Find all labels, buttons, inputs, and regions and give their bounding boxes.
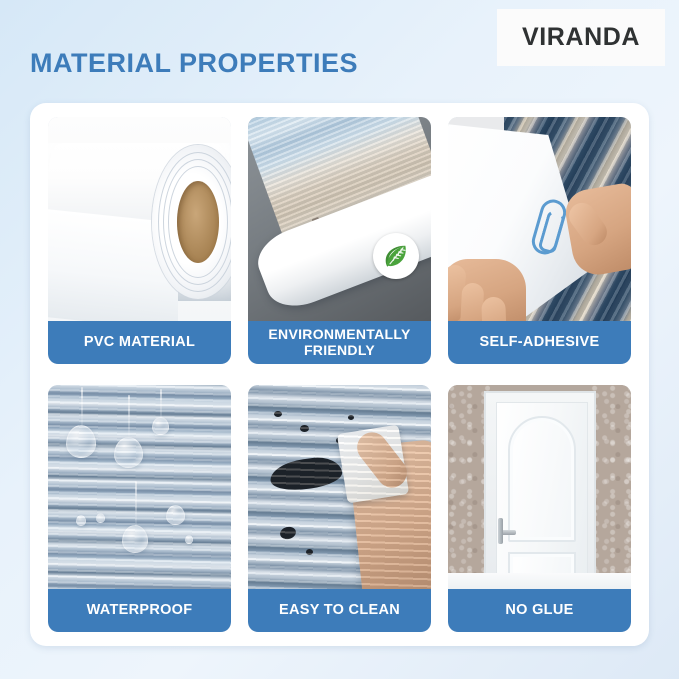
feature-card-environmentally-friendly[interactable]: ENVIRONMENTALLY FRIENDLY [248, 117, 431, 364]
feature-label-environmentally-friendly: ENVIRONMENTALLY FRIENDLY [248, 321, 431, 364]
water-droplet-3 [152, 417, 169, 435]
cleaning-cloth [337, 425, 409, 504]
stain-spot-3 [300, 425, 309, 432]
feature-label-no-glue: NO GLUE [448, 589, 631, 632]
feature-card-no-glue[interactable]: NO GLUE [448, 385, 631, 632]
door-slab [496, 402, 588, 595]
cleaning-thumb [351, 426, 413, 493]
door-panel-top [508, 416, 576, 542]
leaf-icon [373, 233, 419, 279]
waterproof-image [48, 385, 231, 595]
droplet-trail-3 [160, 389, 162, 419]
stain-spot-6 [279, 525, 297, 541]
water-droplet-6 [76, 515, 86, 526]
brand-logo: VIRANDA [497, 9, 665, 66]
feature-label-waterproof: WATERPROOF [48, 589, 231, 632]
left-hand [448, 259, 526, 327]
self-adhesive-image [448, 117, 631, 327]
cleaning-hand [347, 439, 431, 595]
feature-label-self-adhesive: SELF-ADHESIVE [448, 321, 631, 364]
easy-to-clean-image [248, 385, 431, 595]
brand-logo-text: VIRANDA [522, 23, 640, 52]
droplet-trail-1 [81, 387, 83, 427]
feature-card-pvc-material[interactable]: PVC MATERIAL [48, 117, 231, 364]
water-droplet-1 [66, 425, 96, 458]
stain-smear-main [268, 454, 343, 494]
eco-peel-image [248, 117, 431, 327]
feature-label-easy-to-clean: EASY TO CLEAN [248, 589, 431, 632]
pvc-roll-image [48, 117, 231, 327]
features-grid: PVC MATERIAL [48, 117, 631, 632]
wall-right [591, 385, 631, 595]
features-panel: PVC MATERIAL [30, 103, 649, 646]
feature-card-easy-to-clean[interactable]: EASY TO CLEAN [248, 385, 431, 632]
stain-spot-7 [306, 549, 313, 555]
feature-label-pvc-material: PVC MATERIAL [48, 321, 231, 364]
door-frame [484, 391, 596, 595]
stain-spot-4 [336, 437, 344, 444]
no-glue-door-image [448, 385, 631, 595]
page-title: MATERIAL PROPERTIES [30, 48, 358, 79]
page-header: MATERIAL PROPERTIES VIRANDA [0, 0, 679, 103]
water-droplet-5 [166, 505, 185, 525]
feature-card-self-adhesive[interactable]: SELF-ADHESIVE [448, 117, 631, 364]
water-droplet-2 [114, 437, 143, 468]
door-handle [500, 530, 516, 535]
water-droplet-4 [122, 525, 148, 553]
droplet-trail-2 [128, 395, 130, 439]
stain-spot-5 [348, 415, 354, 420]
water-droplet-7 [96, 513, 105, 523]
roll-cardboard-core [177, 181, 219, 263]
water-droplet-8 [185, 535, 193, 544]
droplet-trail-4 [135, 481, 137, 527]
stain-spot-2 [274, 411, 282, 417]
feature-card-waterproof[interactable]: WATERPROOF [48, 385, 231, 632]
